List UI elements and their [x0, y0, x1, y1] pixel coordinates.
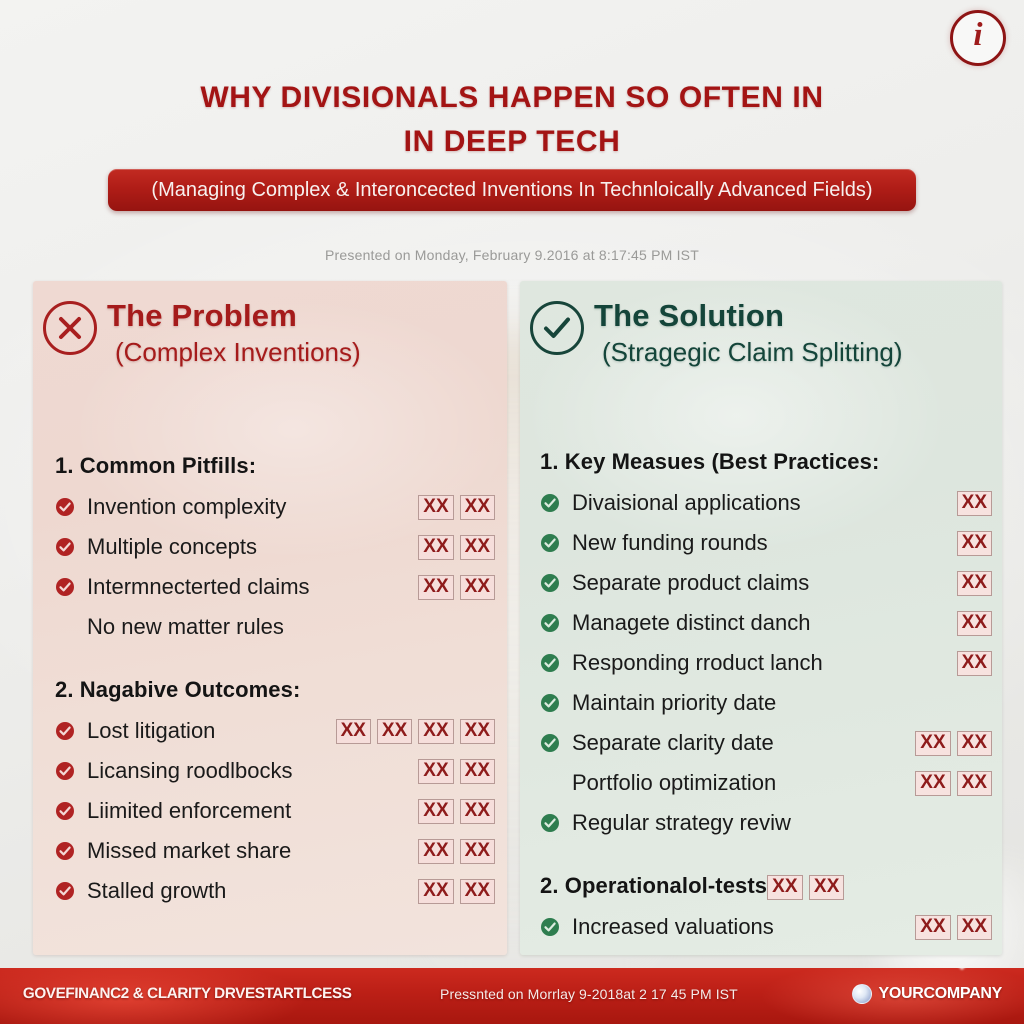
list-item[interactable]: Separate product claims XX: [540, 563, 992, 603]
check-circle-green-icon: [540, 917, 560, 937]
check-circle-red-icon: [55, 801, 75, 821]
list-item[interactable]: Missed market share XX XX: [55, 831, 495, 871]
list-item-label: Liimited enforcement: [87, 798, 291, 824]
list-item-label: New funding rounds: [572, 530, 768, 556]
problem-list: 1. Common Pitfills: Invention complexity…: [55, 445, 495, 911]
check-circle-red-icon: [55, 537, 75, 557]
status-badge: XX: [915, 731, 950, 756]
status-badge: XX: [767, 875, 803, 900]
status-badge: XX: [957, 571, 992, 596]
title-line-2: IN DEEP TECH: [0, 120, 1024, 164]
list-item-label: Multiple concepts: [87, 534, 257, 560]
footer-brand-label: YOURCOMPANY: [878, 985, 1002, 1003]
solution-list: 1. Key Measues (Best Practices: Divaisio…: [540, 441, 992, 947]
list-item-label: Invention complexity: [87, 494, 286, 520]
check-circle-green-icon: [540, 733, 560, 753]
solution-heading: The Solution: [594, 297, 903, 335]
list-item-label: Regular strategy reviw: [572, 810, 791, 836]
status-badge: XX: [418, 799, 453, 824]
circle-x-icon: [43, 301, 97, 355]
check-circle-green-icon: [540, 493, 560, 513]
list-item[interactable]: Invention complexity XX XX: [55, 487, 495, 527]
badge-group: XX: [943, 611, 992, 636]
badge-group: XX XX: [404, 759, 495, 784]
problem-panel: The Problem (Complex Inventions) 1. Comm…: [33, 281, 507, 955]
list-item[interactable]: Increased valuations XX XX: [540, 907, 992, 947]
footer-timestamp: Pressnted on Morrlay 9-2018at 2 17 45 PM…: [440, 986, 738, 1002]
problem-section-title: 2. Nagabive Outcomes:: [55, 669, 495, 711]
badge-group: XX XX: [404, 535, 495, 560]
status-badge: XX: [460, 575, 495, 600]
list-item[interactable]: Separate clarity date XX XX: [540, 723, 992, 763]
solution-panel: The Solution (Stragegic Claim Splitting)…: [520, 281, 1002, 955]
list-item-label: Missed market share: [87, 838, 291, 864]
badge-group: XX: [943, 571, 992, 596]
list-item[interactable]: Lost litigation XX XX XX XX: [55, 711, 495, 751]
status-badge: XX: [915, 915, 950, 940]
list-item-label: Managete distinct danch: [572, 610, 811, 636]
problem-panel-header: The Problem (Complex Inventions): [33, 295, 507, 369]
list-item[interactable]: Responding rroduct lanch XX: [540, 643, 992, 683]
list-item-label: Separate clarity date: [572, 730, 774, 756]
footer-branding: YOURCOMPANY: [852, 984, 1002, 1004]
status-badge: XX: [915, 771, 950, 796]
badge-group: XX: [943, 651, 992, 676]
list-item[interactable]: Liimited enforcement XX XX: [55, 791, 495, 831]
badge-group: XX XX: [404, 799, 495, 824]
status-badge: XX: [460, 495, 495, 520]
status-badge: XX: [809, 875, 845, 900]
status-badge: XX: [460, 535, 495, 560]
check-circle-green-icon: [540, 813, 560, 833]
status-badge: XX: [460, 879, 495, 904]
check-circle-red-icon: [55, 721, 75, 741]
status-badge: XX: [460, 759, 495, 784]
status-badge: XX: [418, 839, 453, 864]
list-item-label: No new matter rules: [87, 614, 284, 640]
list-item-label: Lost litigation: [87, 718, 215, 744]
status-badge: XX: [460, 799, 495, 824]
badge-group: XX XX: [901, 731, 992, 756]
status-badge: XX: [460, 719, 495, 744]
list-item-label: Divaisional applications: [572, 490, 801, 516]
section-spacer: [540, 843, 992, 865]
list-item[interactable]: Licansing roodlbocks XX XX: [55, 751, 495, 791]
status-badge: XX: [460, 839, 495, 864]
subtitle-banner: (Managing Complex & Interoncected Invent…: [108, 169, 916, 211]
list-item-label: Increased valuations: [572, 914, 774, 940]
page-title: WHY DIVISIONALS HAPPEN SO OFTEN IN IN DE…: [0, 76, 1024, 164]
check-circle-green-icon: [540, 533, 560, 553]
status-badge: XX: [418, 719, 453, 744]
status-badge: XX: [957, 651, 992, 676]
check-circle-red-icon: [55, 841, 75, 861]
list-item-label: Maintain priority date: [572, 690, 776, 716]
solution-section-title: 1. Key Measues (Best Practices:: [540, 441, 992, 483]
list-item-label: Separate product claims: [572, 570, 809, 596]
problem-section-title: 1. Common Pitfills:: [55, 445, 495, 487]
list-item[interactable]: Portfolio optimization XX XX: [540, 763, 992, 803]
check-circle-red-icon: [55, 761, 75, 781]
circle-check-icon: [530, 301, 584, 355]
info-icon[interactable]: i: [950, 10, 1006, 66]
status-badge: XX: [957, 611, 992, 636]
problem-subheading: (Complex Inventions): [107, 335, 361, 369]
status-badge: XX: [418, 759, 453, 784]
section-spacer: [55, 647, 495, 669]
presented-timestamp: Presented on Monday, February 9.2016 at …: [0, 247, 1024, 263]
badge-group: XX XX: [404, 495, 495, 520]
badge-group: XX XX: [404, 879, 495, 904]
solution-panel-header: The Solution (Stragegic Claim Splitting): [520, 295, 1002, 369]
status-badge: XX: [377, 719, 412, 744]
bullet-placeholder: [540, 773, 560, 793]
footer-tagline: GOVEFINANC2 & CLARITY DRVESTARTLCESS: [23, 985, 352, 1002]
list-item[interactable]: No new matter rules: [55, 607, 495, 647]
badge-group: XX: [943, 531, 992, 556]
check-circle-red-icon: [55, 497, 75, 517]
check-circle-red-icon: [55, 881, 75, 901]
badge-group: XX XX: [901, 771, 992, 796]
footer-bar: GOVEFINANC2 & CLARITY DRVESTARTLCESS Pre…: [0, 968, 1024, 1024]
list-item-label: Stalled growth: [87, 878, 226, 904]
arrow-decoration-icon: [940, 968, 984, 970]
solution-subheading: (Stragegic Claim Splitting): [594, 335, 903, 369]
status-badge: XX: [418, 879, 453, 904]
status-badge: XX: [418, 535, 453, 560]
list-item[interactable]: New funding rounds XX: [540, 523, 992, 563]
status-badge: XX: [957, 491, 992, 516]
list-item[interactable]: Regular strategy reviw: [540, 803, 992, 843]
title-line-1: WHY DIVISIONALS HAPPEN SO OFTEN IN: [200, 81, 823, 114]
solution-section-title: 2. Operationalol-tests XX XX: [540, 865, 992, 907]
list-item[interactable]: Maintain priority date: [540, 683, 992, 723]
list-item[interactable]: Managete distinct danch XX: [540, 603, 992, 643]
status-badge: XX: [957, 771, 992, 796]
status-badge: XX: [418, 495, 453, 520]
badge-group: XX XX: [901, 915, 992, 940]
check-circle-red-icon: [55, 577, 75, 597]
bullet-placeholder: [55, 617, 75, 637]
check-circle-green-icon: [540, 653, 560, 673]
list-item[interactable]: Divaisional applications XX: [540, 483, 992, 523]
check-circle-green-icon: [540, 693, 560, 713]
list-item[interactable]: Stalled growth XX XX: [55, 871, 495, 911]
status-badge: XX: [418, 575, 453, 600]
check-circle-green-icon: [540, 613, 560, 633]
badge-group: XX: [943, 491, 992, 516]
list-item-label: Licansing roodlbocks: [87, 758, 292, 784]
slide-canvas: i WHY DIVISIONALS HAPPEN SO OFTEN IN IN …: [0, 0, 1024, 1024]
status-badge: XX: [957, 731, 992, 756]
status-badge: XX: [957, 531, 992, 556]
list-item-label: Portfolio optimization: [572, 770, 776, 796]
badge-group: XX XX: [404, 839, 495, 864]
list-item-label: Intermnecterted claims: [87, 574, 310, 600]
company-logo-icon: [852, 984, 872, 1004]
check-circle-green-icon: [540, 573, 560, 593]
badge-group: XX XX: [404, 575, 495, 600]
status-badge: XX: [957, 915, 992, 940]
problem-heading: The Problem: [107, 297, 361, 335]
list-item[interactable]: Intermnecterted claims XX XX: [55, 567, 495, 607]
badge-group: XX XX XX XX: [322, 719, 495, 744]
badge-group: XX XX: [767, 872, 844, 900]
list-item[interactable]: Multiple concepts XX XX: [55, 527, 495, 567]
list-item-label: Responding rroduct lanch: [572, 650, 823, 676]
status-badge: XX: [336, 719, 371, 744]
